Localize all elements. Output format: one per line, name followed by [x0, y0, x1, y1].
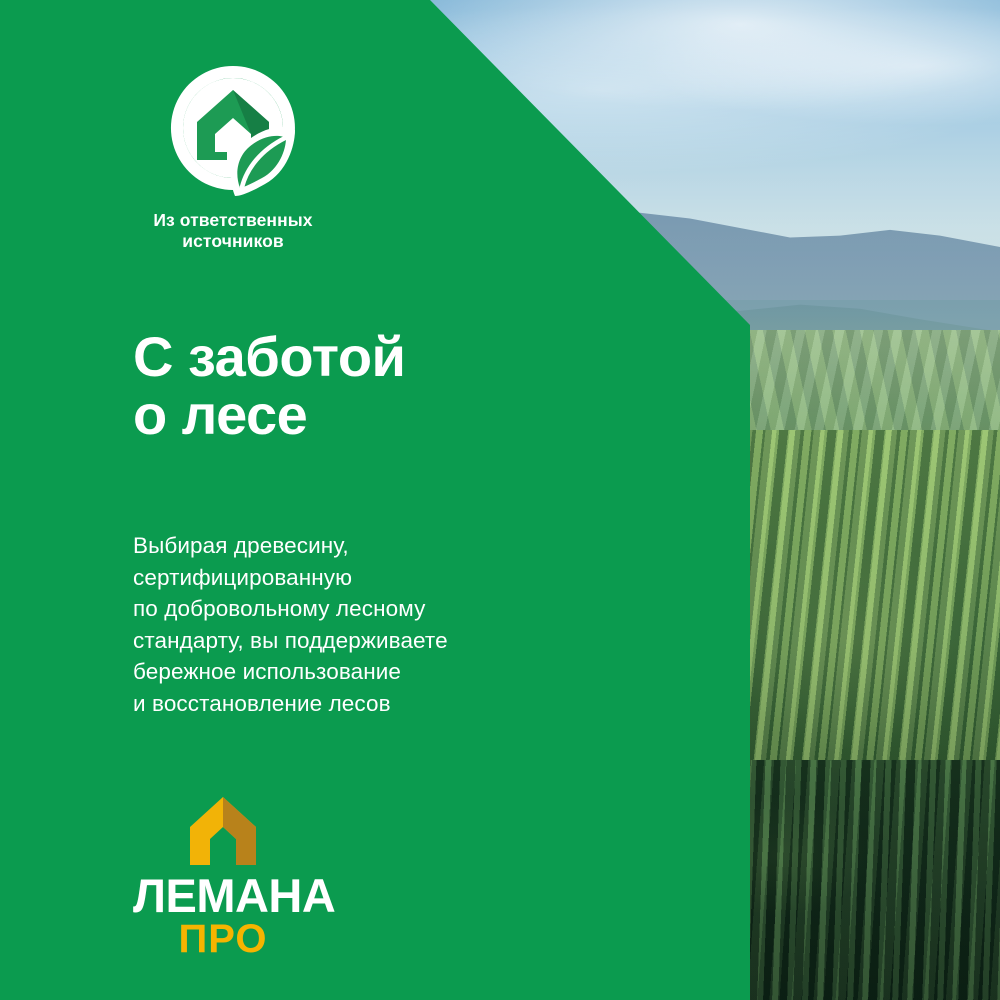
lemana-pro-logo: ЛЕМАНА ПРО: [133, 795, 313, 959]
promo-banner: Из ответственных источников С заботой о …: [0, 0, 1000, 1000]
lemana-house-icon: [188, 795, 258, 867]
house-leaf-circle-icon: [165, 60, 301, 196]
banner-content: Из ответственных источников С заботой о …: [0, 0, 1000, 1000]
page-title: С заботой о лесе: [133, 328, 405, 444]
brand-subname: ПРО: [133, 919, 313, 959]
body-copy: Выбирая древесину, сертифицированную по …: [133, 530, 448, 719]
eco-badge-caption: Из ответственных источников: [133, 210, 333, 253]
brand-name: ЛЕМАНА: [133, 873, 313, 918]
eco-certification-badge: Из ответственных источников: [133, 60, 333, 253]
